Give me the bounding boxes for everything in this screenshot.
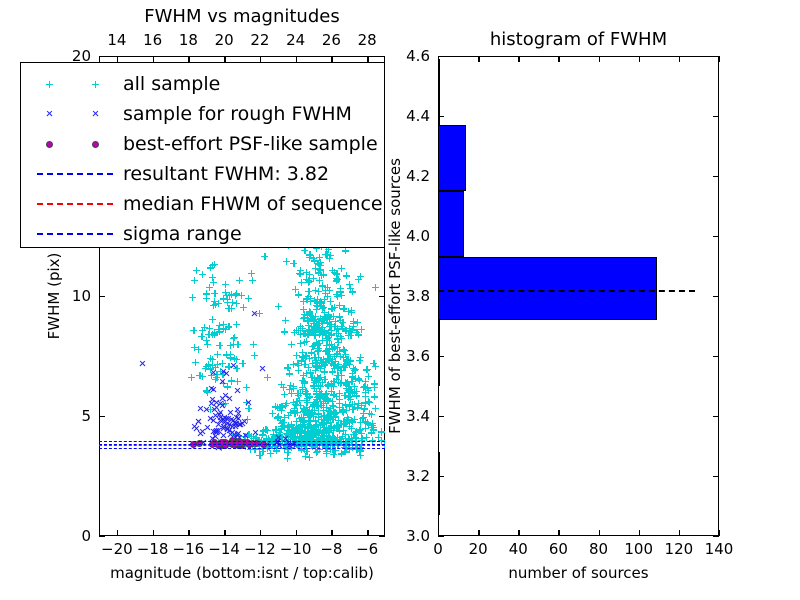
histogram-xtick-label: 120 [665,540,694,558]
histogram-ylabel: FWHM of best-effort PSF-like sources [386,158,404,434]
scatter-top-xtick-label: 26 [322,31,341,49]
histogram-xtick [719,530,720,536]
scatter-top-xtick-label: 24 [286,31,305,49]
legend-item-label: resultant FWHM: 3.82 [123,163,329,185]
legend-item-label: median FHWM of sequence [123,193,383,215]
scatter-xtick-label: −18 [137,540,169,558]
scatter-ytick-label: 5 [81,407,91,425]
scatter-ytick [379,536,385,537]
histogram-ytick-label: 3.8 [406,287,430,305]
histogram-xtick-label: 0 [433,540,443,558]
scatter-refline-sigma-range-lower [99,448,385,449]
histogram-ytick-label: 4.6 [406,47,430,65]
histogram-ytick-label: 3.4 [406,407,430,425]
scatter-ytick-label: 10 [72,287,91,305]
histogram-xtick-label: 60 [549,540,568,558]
scatter-xlabel: magnitude (bottom:isnt / top:calib) [110,564,374,582]
histogram-ytick-label: 4.0 [406,227,430,245]
legend-marker-glyph [92,141,99,148]
legend-line-sample [37,203,113,205]
legend-item-resultant-fwhm-3-82[interactable]: resultant FWHM: 3.82 [27,159,378,189]
legend-item-label: sigma range [123,223,242,245]
figure-canvas: −20−18−16−14−12−10−8−6141618202224262805… [0,0,800,600]
histogram-xtick-label: 140 [705,540,734,558]
scatter-xtick-label: −8 [320,540,342,558]
legend-marker [27,159,123,189]
scatter-top-xtick-label: 28 [358,31,377,49]
histogram-ytick [438,536,444,537]
histogram-ytick-label: 4.4 [406,107,430,125]
histogram-ytick-label: 3.6 [406,347,430,365]
histogram-bar [438,452,440,515]
legend-line-sample [37,233,113,235]
histogram-ytick-label: 4.2 [406,167,430,185]
legend-item-label: all sample [123,73,220,95]
legend-marker [27,99,123,129]
histogram-xtick-label: 80 [589,540,608,558]
legend-item-sigma-range[interactable]: sigma range [27,219,378,249]
histogram-ytick-label: 3.2 [406,467,430,485]
histogram-ytick [713,536,719,537]
histogram-refline [438,290,695,292]
histogram-xtick-label: 40 [509,540,528,558]
scatter-top-xtick-label: 18 [179,31,198,49]
histogram-xtick-label: 20 [469,540,488,558]
legend-item-all-sample[interactable]: all sample [27,69,378,99]
legend-item-sample-for-rough-fwhm[interactable]: sample for rough FWHM [27,99,378,129]
histogram-xtick [719,56,720,62]
scatter-top-xtick-label: 20 [215,31,234,49]
scatter-xtick-label: −6 [356,540,378,558]
legend-line-sample [37,173,113,175]
histogram-bar [438,59,440,125]
histogram-xtick-label: 100 [624,540,653,558]
histogram-bar [438,257,657,320]
histogram-data-area [438,56,719,536]
histogram-bar [438,125,466,191]
histogram-bar [438,191,464,257]
legend-marker-glyph [46,141,53,148]
scatter-xtick-label: −10 [280,540,312,558]
scatter-xtick-label: −14 [208,540,240,558]
histogram-bar [438,320,440,386]
histogram-xlabel: number of sources [508,564,648,582]
scatter-xtick-label: −16 [173,540,205,558]
legend-item-label: best-effort PSF-like sample [123,133,378,155]
scatter-ytick [99,536,105,537]
legend-item-median-fhwm-of-sequence[interactable]: median FHWM of sequence [27,189,378,219]
scatter-refline-median-fhwm-of-sequence [99,445,385,446]
histogram-ytick-label: 3.0 [406,527,430,545]
scatter-refline-sigma-range-upper [99,441,385,442]
legend-item-label: sample for rough FWHM [123,103,352,125]
legend-marker [27,219,123,249]
legend-item-best-effort-psf-like-sample[interactable]: best-effort PSF-like sample [27,129,378,159]
scatter-xtick-label: −20 [101,540,133,558]
scatter-xtick-label: −12 [244,540,276,558]
legend-marker [27,69,123,99]
scatter-ylabel: FWHM (pix) [45,253,63,340]
legend-marker [27,129,123,159]
legend-marker [27,189,123,219]
scatter-top-xtick-label: 22 [250,31,269,49]
scatter-top-xtick-label: 14 [107,31,126,49]
legend-box[interactable]: all samplesample for rough FWHMbest-effo… [20,62,385,248]
scatter-title: FWHM vs magnitudes [99,6,385,27]
histogram-title: histogram of FWHM [438,29,719,50]
scatter-ytick-label: 0 [81,527,91,545]
scatter-top-xtick-label: 16 [143,31,162,49]
